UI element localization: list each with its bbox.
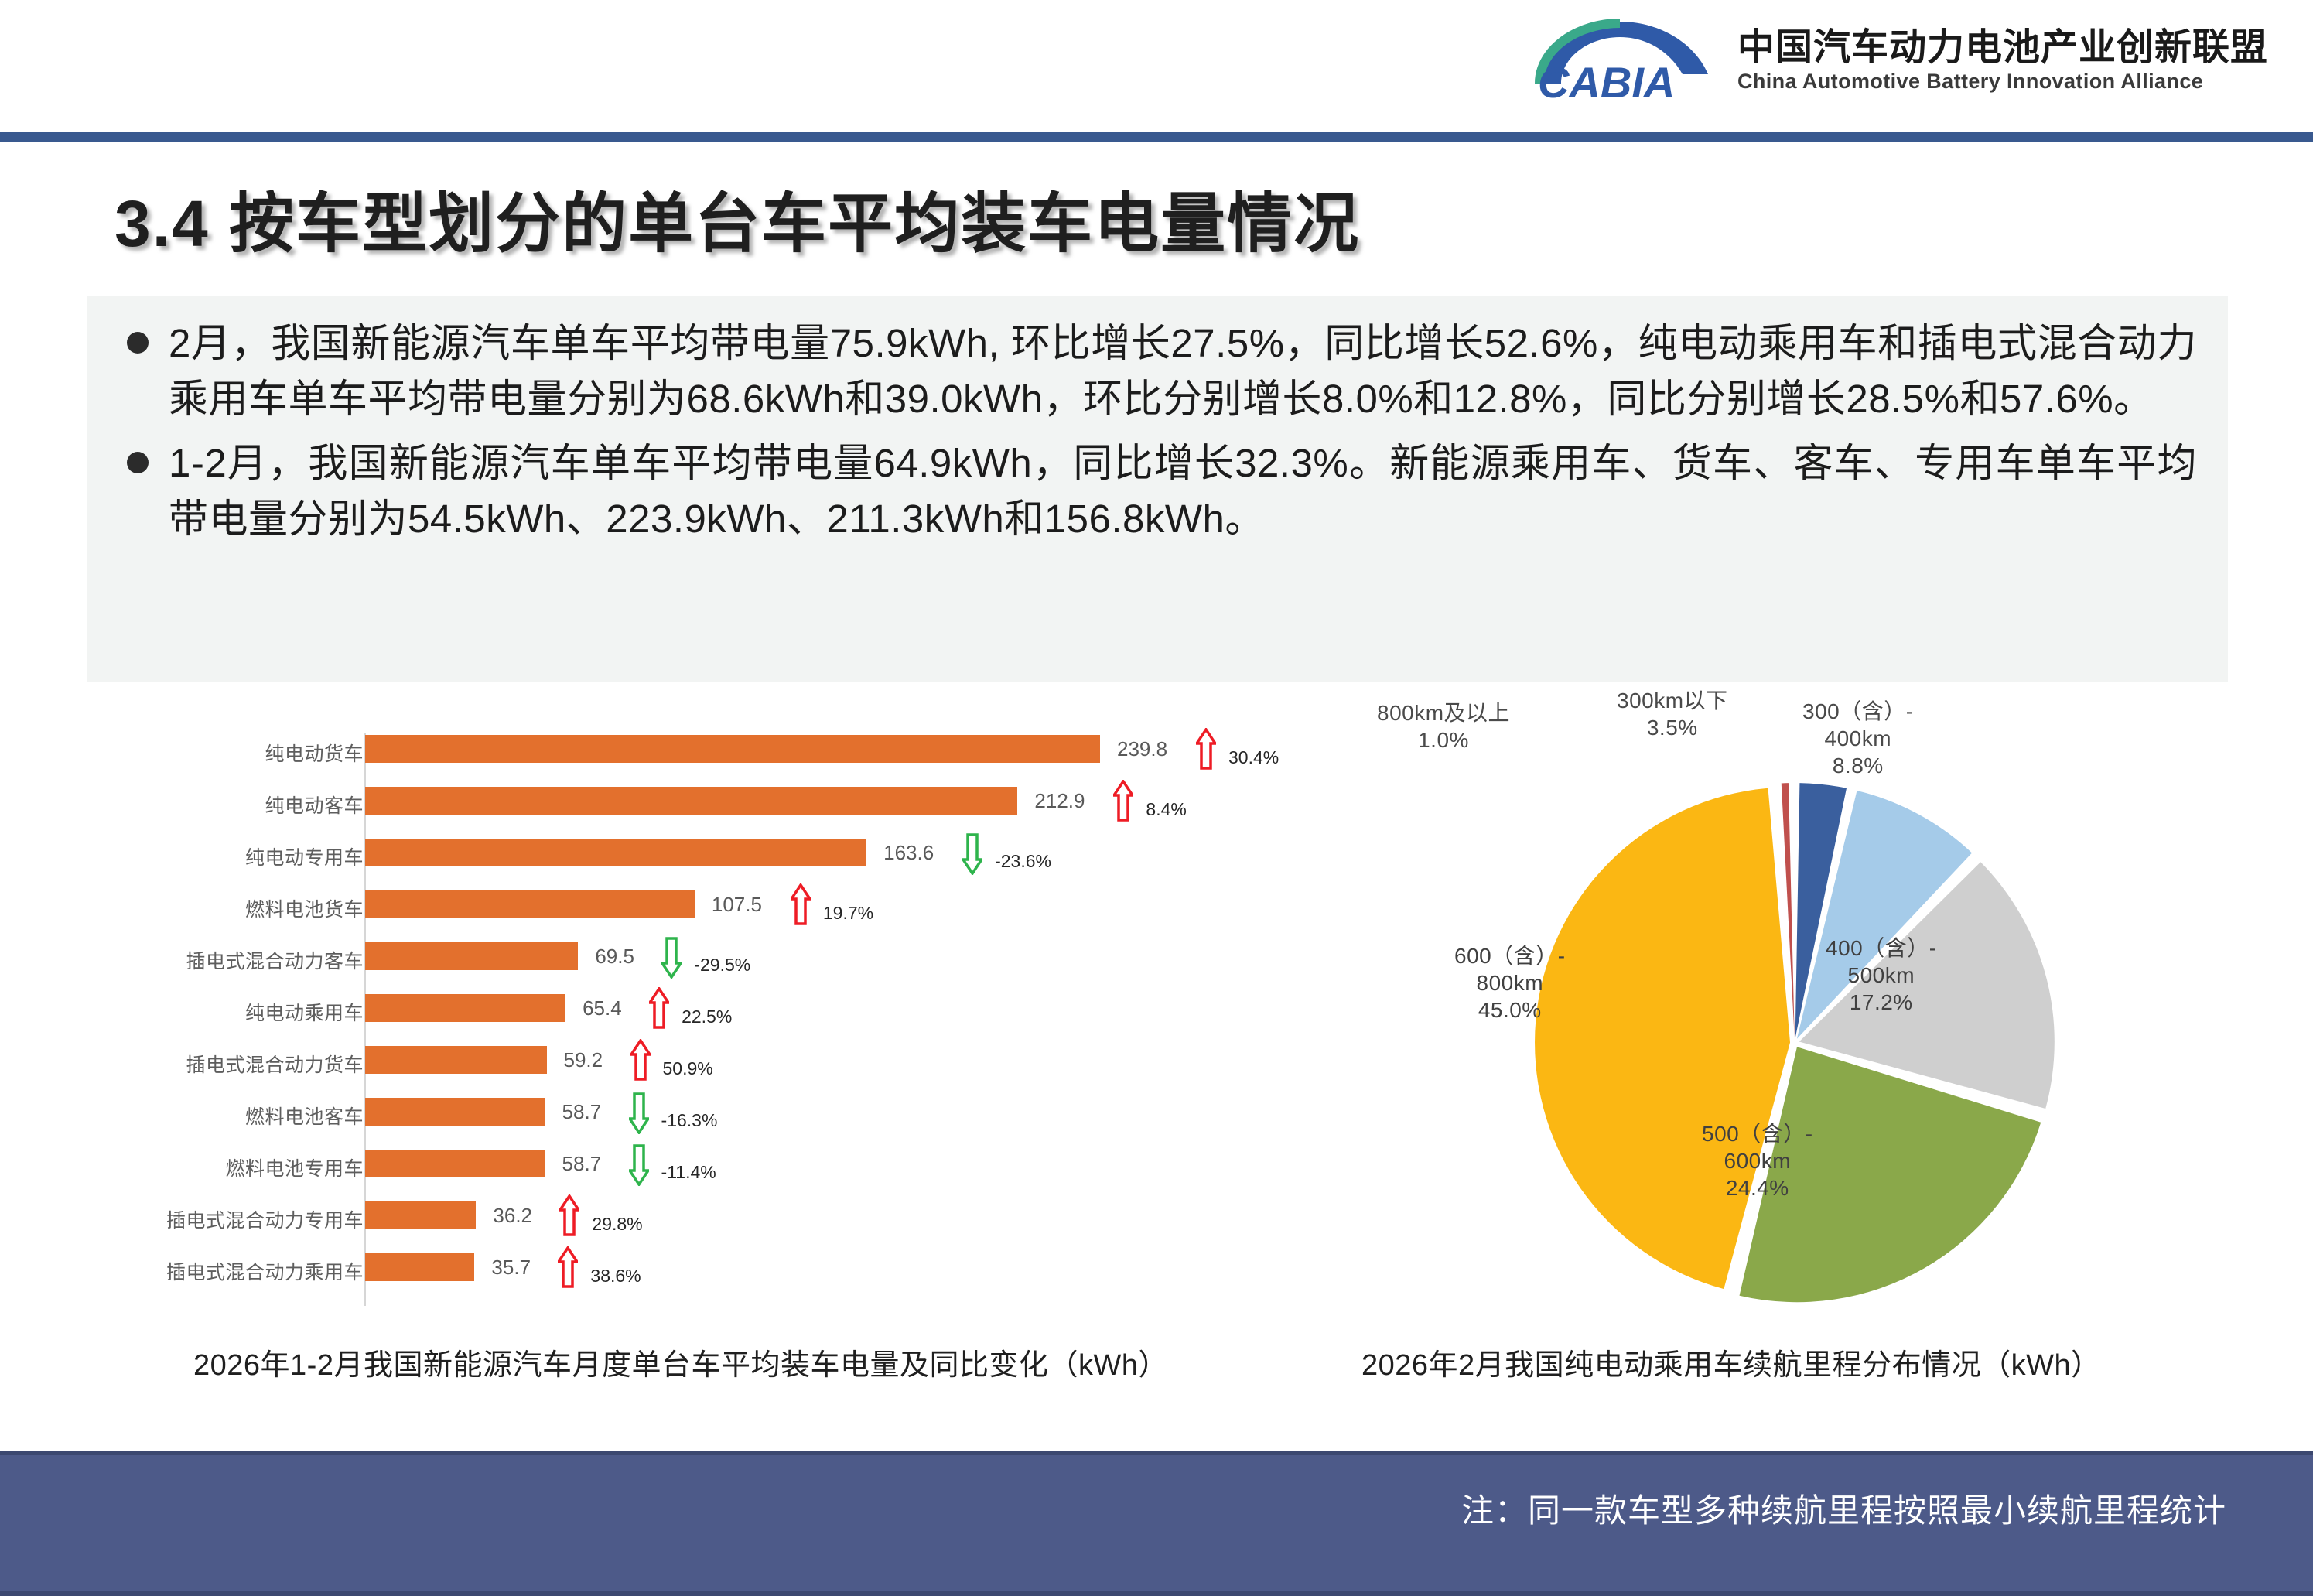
footer-note: 注：同一款车型多种续航里程按照最小续航里程统计 — [1461, 1485, 2226, 1532]
arrow-up-icon — [649, 987, 669, 1029]
arrow-up-icon — [1113, 780, 1133, 822]
bar-chart-row: 纯电动客车212.98.4% — [116, 787, 1323, 815]
bar-category-label: 燃料电池客车 — [0, 1102, 364, 1130]
bullet-item: 2月，我国新能源汽车单车平均带电量75.9kWh, 环比增长27.5%，同比增长… — [118, 316, 2197, 428]
header-divider — [0, 132, 2313, 142]
bar-segment — [365, 1253, 474, 1281]
bar-category-label: 插电式混合动力货车 — [0, 1050, 364, 1078]
bar-segment — [365, 787, 1017, 815]
bar-chart-row: 纯电动专用车163.6-23.6% — [116, 839, 1323, 866]
bar-yoy-label: -11.4% — [661, 1162, 716, 1183]
pie-slice-label: 300km以下3.5% — [1617, 687, 1728, 741]
arrow-down-icon — [629, 1143, 649, 1184]
arrow-up-icon — [559, 1194, 579, 1236]
bar-chart-row: 插电式混合动力乘用车35.738.6% — [116, 1253, 1323, 1281]
bar-category-label: 插电式混合动力专用车 — [0, 1205, 364, 1233]
bullet-item: 1-2月，我国新能源汽车单车平均带电量64.9kWh，同比增长32.3%。新能源… — [118, 436, 2197, 548]
bar-yoy-label: -23.6% — [995, 851, 1051, 872]
bullet-text: 1-2月，我国新能源汽车单车平均带电量64.9kWh，同比增长32.3%。新能源… — [169, 436, 2197, 548]
pie-chart-svg — [1485, 772, 2104, 1314]
arrow-up-icon — [791, 883, 811, 925]
bar-value-label: 58.7 — [562, 1100, 602, 1124]
bar-segment — [365, 1150, 545, 1177]
arrow-down-icon — [629, 1091, 649, 1133]
svg-text:CABIA: CABIA — [1538, 58, 1675, 104]
bar-category-label: 插电式混合动力乘用车 — [0, 1257, 364, 1285]
brand-logo: CABIA 中国汽车动力电池产业创新联盟 China Automotive Ba… — [1524, 17, 2268, 104]
arrow-up-icon — [630, 1039, 651, 1081]
bar-segment — [365, 839, 866, 866]
bar-chart-row: 插电式混合动力货车59.250.9% — [116, 1046, 1323, 1074]
page-title: 3.4 按车型划分的单台车平均装车电量情况 — [114, 172, 1894, 265]
pie-chart-caption: 2026年2月我国纯电动乘用车续航里程分布情况（kWh） — [1361, 1341, 2101, 1383]
bar-chart-row: 插电式混合动力客车69.5-29.5% — [116, 942, 1323, 970]
arrow-down-icon — [962, 832, 982, 873]
slide: CABIA 中国汽车动力电池产业创新联盟 China Automotive Ba… — [0, 0, 2313, 1596]
slide-footer: 注：同一款车型多种续航里程按照最小续航里程统计 — [0, 1451, 2313, 1596]
bar-value-label: 69.5 — [595, 945, 634, 969]
bar-segment — [365, 1046, 547, 1074]
bar-segment — [365, 890, 695, 918]
bar-category-label: 纯电动客车 — [0, 791, 364, 819]
bar-segment — [365, 1098, 545, 1126]
summary-panel: 2月，我国新能源汽车单车平均带电量75.9kWh, 环比增长27.5%，同比增长… — [87, 296, 2228, 682]
cabia-arc-logo-icon: CABIA — [1524, 17, 1717, 104]
arrow-up-icon — [558, 1246, 578, 1288]
pie-slice-label: 600（含）-800km45.0% — [1454, 942, 1566, 1024]
bar-yoy-label: 50.9% — [663, 1058, 713, 1079]
pie-slice — [1535, 788, 1790, 1289]
pie-slice-label: 400（含）-500km17.2% — [1826, 935, 1937, 1016]
bar-segment — [365, 994, 565, 1022]
bar-chart: 纯电动货车239.830.4%纯电动客车212.98.4%纯电动专用车163.6… — [116, 718, 1323, 1337]
bar-segment — [365, 942, 578, 970]
bar-value-label: 36.2 — [493, 1204, 532, 1228]
bar-chart-caption: 2026年1-2月我国新能源汽车月度单台车平均装车电量及同比变化（kWh） — [193, 1341, 1168, 1383]
bar-category-label: 燃料电池货车 — [0, 894, 364, 922]
bar-chart-row: 燃料电池货车107.519.7% — [116, 890, 1323, 918]
bar-yoy-label: -16.3% — [661, 1110, 718, 1131]
pie-slice-label: 800km及以上1.0% — [1377, 699, 1510, 754]
charts-area: 中国汽车动力电池产业创新联盟 纯电动货车239.830.4%纯电动客车212.9… — [0, 695, 2313, 1391]
bar-segment — [365, 1201, 476, 1229]
bar-chart-row: 纯电动货车239.830.4% — [116, 735, 1323, 763]
bar-category-label: 纯电动专用车 — [0, 842, 364, 870]
bar-value-label: 35.7 — [491, 1256, 531, 1280]
bar-chart-row: 燃料电池客车58.7-16.3% — [116, 1098, 1323, 1126]
bar-value-label: 107.5 — [712, 893, 762, 917]
bar-category-label: 燃料电池专用车 — [0, 1153, 364, 1181]
bar-yoy-label: 8.4% — [1146, 799, 1186, 820]
bar-value-label: 163.6 — [883, 841, 934, 865]
slide-header: CABIA 中国汽车动力电池产业创新联盟 China Automotive Ba… — [0, 0, 2313, 138]
bar-yoy-label: 19.7% — [823, 903, 873, 924]
arrow-up-icon — [1196, 728, 1216, 770]
bullet-dot-icon — [127, 452, 149, 473]
pie-slice-label: 300（含）-400km8.8% — [1802, 698, 1914, 779]
bar-category-label: 纯电动乘用车 — [0, 998, 364, 1026]
bar-yoy-label: 22.5% — [682, 1006, 732, 1027]
bar-yoy-label: 30.4% — [1228, 747, 1279, 768]
bar-yoy-label: 38.6% — [590, 1266, 641, 1287]
org-name-en: China Automotive Battery Innovation Alli… — [1737, 69, 2268, 94]
bar-chart-row: 燃料电池专用车58.7-11.4% — [116, 1150, 1323, 1177]
pie-slice-label: 500（含）-600km24.4% — [1702, 1120, 1813, 1201]
org-name-cn: 中国汽车动力电池产业创新联盟 — [1737, 27, 2268, 69]
bar-value-label: 212.9 — [1034, 789, 1085, 813]
bar-value-label: 59.2 — [564, 1048, 603, 1072]
bar-value-label: 239.8 — [1117, 737, 1167, 761]
bar-chart-row: 插电式混合动力专用车36.229.8% — [116, 1201, 1323, 1229]
bullet-text: 2月，我国新能源汽车单车平均带电量75.9kWh, 环比增长27.5%，同比增长… — [169, 316, 2197, 428]
pie-chart: 800km及以上1.0%300km以下3.5%300（含）-400km8.8%4… — [1361, 687, 2274, 1345]
arrow-down-icon — [661, 935, 682, 977]
bar-category-label: 纯电动货车 — [0, 739, 364, 767]
bar-value-label: 58.7 — [562, 1152, 602, 1176]
bar-yoy-label: -29.5% — [694, 955, 750, 976]
bar-category-label: 插电式混合动力客车 — [0, 946, 364, 974]
bar-yoy-label: 29.8% — [592, 1214, 642, 1235]
bar-value-label: 65.4 — [583, 996, 622, 1020]
bar-chart-row: 纯电动乘用车65.422.5% — [116, 994, 1323, 1022]
bar-segment — [365, 735, 1100, 763]
bullet-dot-icon — [127, 332, 149, 354]
